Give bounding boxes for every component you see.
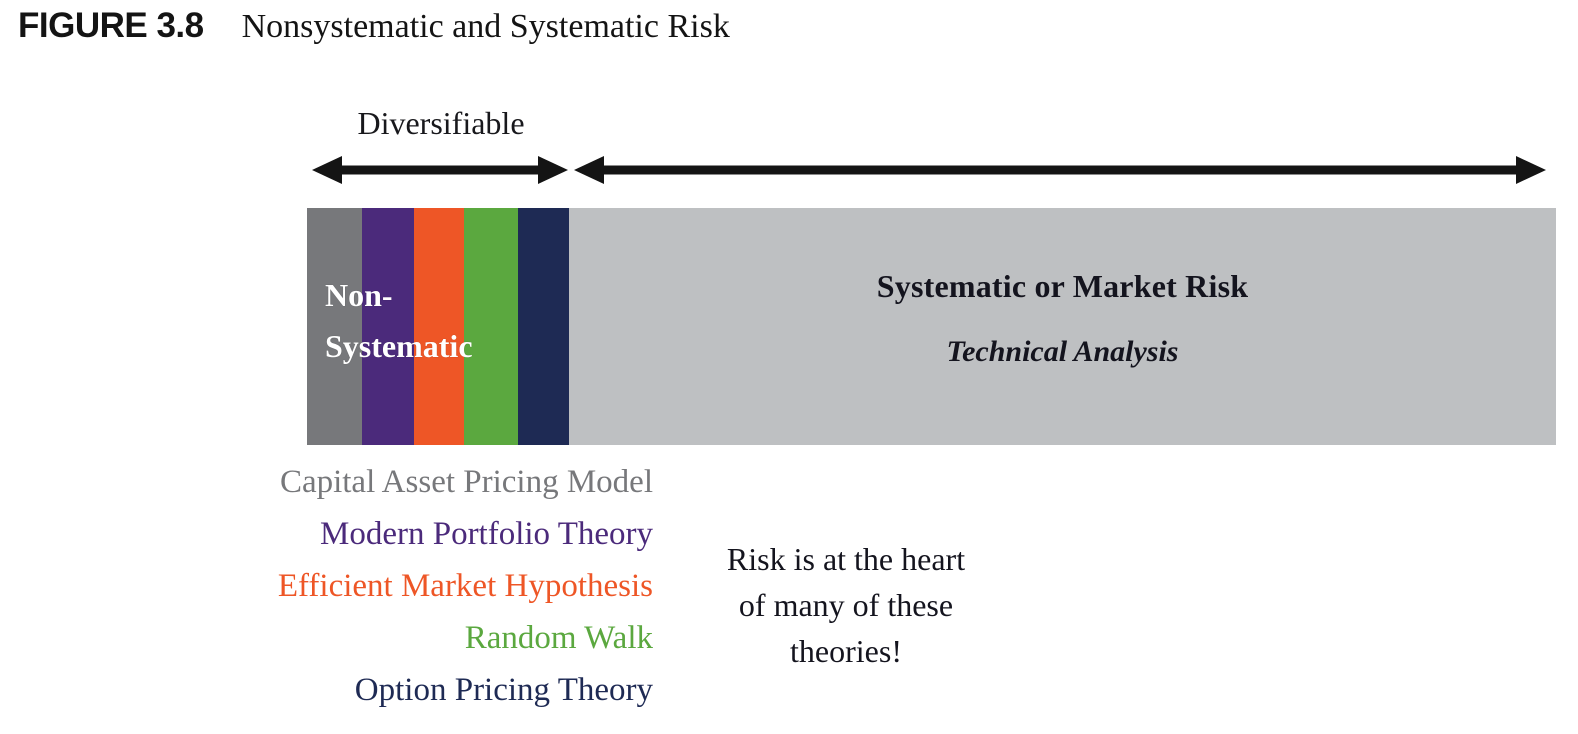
risk-note-line1: Risk is at the heart <box>688 536 1004 582</box>
nonsystematic-label-line2: Systematic <box>325 321 473 372</box>
list-item: Efficient Market Hypothesis <box>180 560 653 612</box>
list-item: Random Walk <box>180 612 653 664</box>
theory-label-emh: Efficient Market Hypothesis <box>278 568 653 604</box>
theory-label-capm: Capital Asset Pricing Model <box>280 464 653 500</box>
list-item: Option Pricing Theory <box>180 664 653 716</box>
double-headed-arrow-icon <box>574 152 1546 188</box>
figure-number: FIGURE 3.8 <box>18 6 204 46</box>
systematic-risk-title: Systematic or Market Risk <box>569 268 1556 305</box>
theory-label-mpt: Modern Portfolio Theory <box>320 516 653 552</box>
figure-title: Nonsystematic and Systematic Risk <box>242 8 730 46</box>
risk-bar: Non- Systematic Systematic or Market Ris… <box>307 208 1556 445</box>
diversifiable-label: Diversifiable <box>315 105 567 142</box>
systematic-risk-text: Systematic or Market Risk Technical Anal… <box>569 268 1556 369</box>
theory-label-random-walk: Random Walk <box>465 620 653 656</box>
risk-note-line3: theories! <box>688 628 1004 674</box>
diversifiable-span-arrow <box>312 152 568 188</box>
list-item: Modern Portfolio Theory <box>180 508 653 560</box>
technical-analysis-subtitle: Technical Analysis <box>569 335 1556 369</box>
nonsystematic-label: Non- Systematic <box>325 270 473 372</box>
figure-header: FIGURE 3.8 Nonsystematic and Systematic … <box>18 6 730 46</box>
double-headed-arrow-icon <box>312 152 568 188</box>
band-systematic-risk: Systematic or Market Risk Technical Anal… <box>569 208 1556 445</box>
systematic-span-arrow <box>574 152 1546 188</box>
band-capital-asset-pricing-model: Non- Systematic <box>307 208 362 445</box>
list-item: Capital Asset Pricing Model <box>180 456 653 508</box>
risk-note: Risk is at the heart of many of these th… <box>688 536 1004 674</box>
theory-legend-list: Capital Asset Pricing Model Modern Portf… <box>180 456 653 716</box>
band-option-pricing-theory <box>518 208 569 445</box>
nonsystematic-label-line1: Non- <box>325 270 473 321</box>
risk-note-line2: of many of these <box>688 582 1004 628</box>
theory-label-option-pricing: Option Pricing Theory <box>355 672 653 708</box>
